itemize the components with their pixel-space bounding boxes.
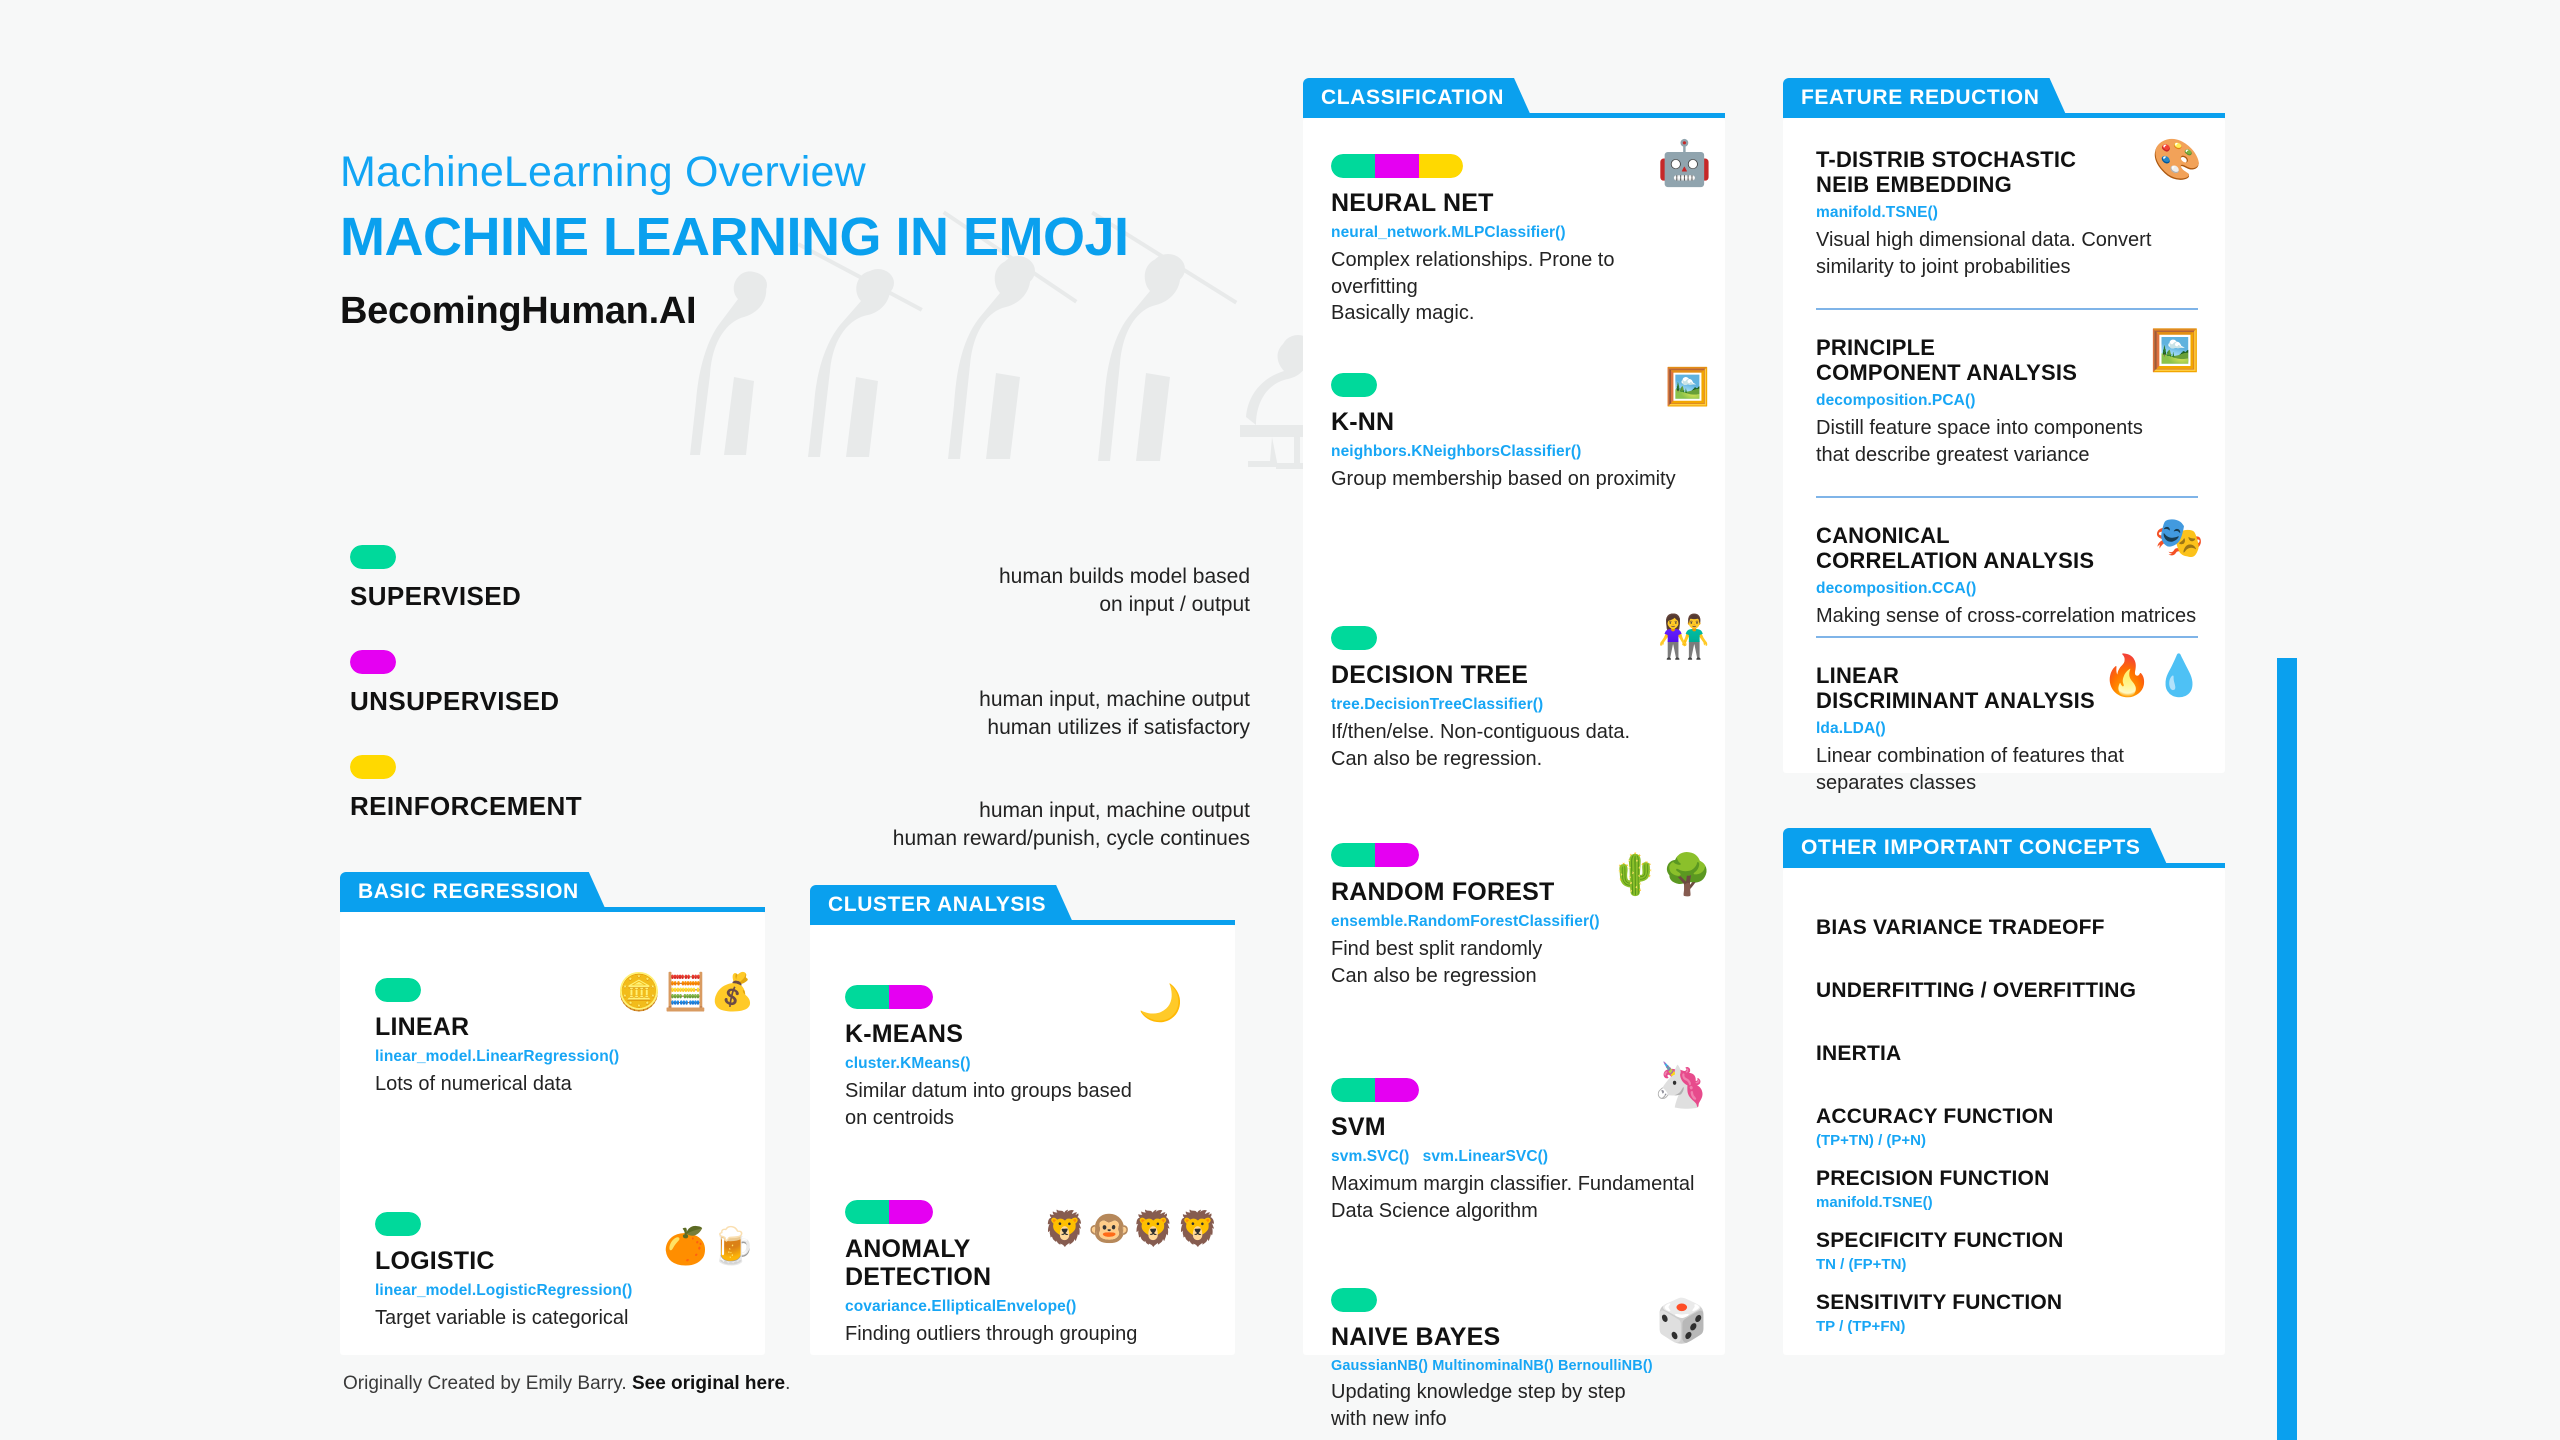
legend-item-unsupervised: UNSUPERVISED human input, machine output…	[350, 650, 1250, 755]
emoji-crescent-moon: 🌙	[1138, 985, 1185, 1021]
card-tab-basic-regression[interactable]: BASIC REGRESSION	[340, 872, 607, 912]
pill-supervised	[375, 1212, 421, 1236]
pill-supervised	[375, 978, 421, 1002]
entry-code: svm.SVC() svm.LinearSVC()	[1331, 1148, 1706, 1166]
emoji-framed-picture: 🖼️	[1665, 369, 1712, 405]
entry-title: LINEAR	[375, 1013, 735, 1041]
emoji-fire-droplet: 🔥💧	[2102, 656, 2206, 696]
concept-title: SENSITIVITY FUNCTION	[1816, 1291, 2198, 1315]
card-tab-other-concepts[interactable]: OTHER IMPORTANT CONCEPTS	[1783, 828, 2169, 868]
entry-title: PRINCIPLE COMPONENT ANALYSIS	[1816, 336, 2198, 385]
entry-code: linear_model.LogisticRegression()	[375, 1282, 735, 1300]
concept-bias-variance-tradeoff: BIAS VARIANCE TRADEOFF	[1816, 916, 2198, 940]
concept-inertia: INERTIA	[1816, 1042, 2198, 1066]
entry-title: K-MEANS	[845, 1020, 1205, 1048]
pill-reinforcement	[350, 755, 396, 779]
entry-k-means: K-MEANS cluster.KMeans() Similar datum i…	[845, 985, 1205, 1131]
card-tab-cluster-analysis[interactable]: CLUSTER ANALYSIS	[810, 885, 1074, 925]
entry-lda: LINEAR DISCRIMINANT ANALYSIS lda.LDA() L…	[1816, 664, 2198, 796]
pill-supervised	[350, 545, 396, 569]
entry-code: decomposition.PCA()	[1816, 392, 2198, 410]
emoji-orange-beer: 🍊🍺	[663, 1228, 757, 1264]
entry-decision-tree: DECISION TREE tree.DecisionTreeClassifie…	[1331, 626, 1706, 772]
entry-code: ensemble.RandomForestClassifier()	[1331, 913, 1706, 931]
emoji-man-and-woman: 👫	[1658, 616, 1712, 658]
legend: SUPERVISED human builds model based on i…	[350, 545, 1250, 860]
entry-linear: LINEAR linear_model.LinearRegression() L…	[375, 978, 735, 1098]
legend-label: UNSUPERVISED	[350, 686, 560, 717]
entry-desc: Finding outliers through grouping	[845, 1321, 1205, 1348]
entry-tsne: T-DISTRIB STOCHASTIC NEIB EMBEDDING mani…	[1816, 148, 2198, 280]
concept-title: ACCURACY FUNCTION	[1816, 1105, 2198, 1129]
entry-code: GaussianNB() MultinominalNB() BernoulliN…	[1331, 1358, 1706, 1374]
entry-desc: Distill feature space into components th…	[1816, 415, 2198, 468]
concepts-list: BIAS VARIANCE TRADEOFF UNDERFITTING / OV…	[1816, 916, 2198, 1335]
entry-logistic: LOGISTIC linear_model.LogisticRegression…	[375, 1212, 735, 1332]
pill-supervised	[1331, 1288, 1377, 1312]
entry-desc: Maximum margin classifier. Fundamental D…	[1331, 1171, 1706, 1224]
emoji-artist-palette: 🎨	[2152, 140, 2204, 180]
header-subtitle: MachineLearning Overview	[340, 150, 1340, 195]
pill-unsupervised	[350, 650, 396, 674]
entry-desc: Visual high dimensional data. Convert si…	[1816, 227, 2198, 280]
entry-desc: Find best split randomly Can also be reg…	[1331, 936, 1706, 989]
pill-supervised-unsupervised	[1331, 1078, 1419, 1102]
legend-item-reinforcement: REINFORCEMENT human input, machine outpu…	[350, 755, 1250, 860]
entry-title: SVM	[1331, 1113, 1706, 1141]
entry-title: DECISION TREE	[1331, 661, 1706, 689]
entry-desc: Complex relationships. Prone to overfitt…	[1331, 247, 1706, 327]
emoji-unicorn-face: 🦄	[1653, 1064, 1710, 1108]
card-feature-reduction: FEATURE REDUCTION T-DISTRIB STOCHASTIC N…	[1783, 118, 2225, 773]
emoji-framed-picture: 🖼️	[2150, 331, 2202, 371]
entry-title: K-NN	[1331, 408, 1706, 436]
emoji-robot-face: 🤖	[1657, 142, 1714, 186]
concept-precision-function: PRECISION FUNCTION manifold.TSNE()	[1816, 1167, 2198, 1211]
entry-desc: If/then/else. Non-contiguous data. Can a…	[1331, 719, 1706, 772]
divider	[1816, 636, 2198, 638]
pill-supervised-unsupervised	[845, 985, 933, 1009]
entry-code: manifold.TSNE()	[1816, 204, 2198, 222]
legend-label: REINFORCEMENT	[350, 791, 582, 822]
entry-code: lda.LDA()	[1816, 720, 2198, 738]
infographic-root: MachineLearning Overview MACHINE LEARNIN…	[0, 0, 2560, 1440]
entry-cca: CANONICAL CORRELATION ANALYSIS decomposi…	[1816, 524, 2198, 630]
concept-title: UNDERFITTING / OVERFITTING	[1816, 979, 2198, 1003]
concept-code: manifold.TSNE()	[1816, 1194, 2198, 1211]
entry-desc: Updating knowledge step by step with new…	[1331, 1379, 1706, 1432]
emoji-game-die: 🎲	[1656, 1300, 1710, 1342]
entry-title: T-DISTRIB STOCHASTIC NEIB EMBEDDING	[1816, 148, 2198, 197]
emoji-cactus-tree: 🌵🌳	[1610, 855, 1714, 895]
card-classification: CLASSIFICATION NEURAL NET neural_network…	[1303, 118, 1725, 1355]
emoji-lion-monkey-lion-lion: 🦁🐵🦁🦁	[1044, 1212, 1221, 1246]
entry-desc: Lots of numerical data	[375, 1071, 735, 1098]
entry-code: neural_network.MLPClassifier()	[1331, 224, 1706, 242]
page-title: MACHINE LEARNING IN EMOJI	[340, 209, 1340, 266]
pill-supervised-unsupervised	[845, 1200, 933, 1224]
card-basic-regression: BASIC REGRESSION LINEAR linear_model.Lin…	[340, 912, 765, 1355]
entry-desc: Target variable is categorical	[375, 1305, 735, 1332]
header: MachineLearning Overview MACHINE LEARNIN…	[340, 150, 1340, 480]
legend-description: human input, machine output human reward…	[893, 797, 1250, 854]
card-tab-classification[interactable]: CLASSIFICATION	[1303, 78, 1532, 118]
entry-desc: Group membership based on proximity	[1331, 466, 1706, 493]
emoji-performing-arts-masks: 🎭	[2154, 518, 2206, 558]
concept-accuracy-function: ACCURACY FUNCTION (TP+TN) / (P+N)	[1816, 1105, 2198, 1149]
footer-credit: Originally Created by Emily Barry. See o…	[343, 1373, 790, 1395]
brand-name: BecomingHuman.AI	[340, 290, 1340, 333]
card-tab-feature-reduction[interactable]: FEATURE REDUCTION	[1783, 78, 2067, 118]
entry-title: CANONICAL CORRELATION ANALYSIS	[1816, 524, 2198, 573]
entry-svm: SVM svm.SVC() svm.LinearSVC() Maximum ma…	[1331, 1078, 1706, 1224]
concept-title: SPECIFICITY FUNCTION	[1816, 1229, 2198, 1253]
concept-title: PRECISION FUNCTION	[1816, 1167, 2198, 1191]
card-other-concepts: OTHER IMPORTANT CONCEPTS BIAS VARIANCE T…	[1783, 868, 2225, 1355]
entry-title: NEURAL NET	[1331, 189, 1706, 217]
concept-specificity-function: SPECIFICITY FUNCTION TN / (FP+TN)	[1816, 1229, 2198, 1273]
entry-neural-net: NEURAL NET neural_network.MLPClassifier(…	[1331, 154, 1706, 327]
concept-code: (TP+TN) / (P+N)	[1816, 1132, 2198, 1149]
emoji-coin-calculator-moneybag: 🪙🧮💰	[617, 974, 757, 1010]
entry-code: covariance.EllipticalEnvelope()	[845, 1298, 1205, 1316]
entry-desc: Making sense of cross-correlation matric…	[1816, 603, 2198, 630]
pill-all-three	[1331, 154, 1463, 178]
concept-code: TP / (TP+FN)	[1816, 1318, 2198, 1335]
concept-title: BIAS VARIANCE TRADEOFF	[1816, 916, 2198, 940]
right-accent-bar	[2277, 658, 2297, 1440]
entry-desc: Linear combination of features that sepa…	[1816, 743, 2198, 796]
entry-code: tree.DecisionTreeClassifier()	[1331, 696, 1706, 714]
entry-pca: PRINCIPLE COMPONENT ANALYSIS decompositi…	[1816, 336, 2198, 468]
entry-naive-bayes: NAIVE BAYES GaussianNB() MultinominalNB(…	[1331, 1288, 1706, 1432]
legend-description: human input, machine output human utiliz…	[979, 686, 1250, 743]
entry-title: NAIVE BAYES	[1331, 1323, 1706, 1351]
concept-title: INERTIA	[1816, 1042, 2198, 1066]
concept-code: TN / (FP+TN)	[1816, 1256, 2198, 1273]
legend-item-supervised: SUPERVISED human builds model based on i…	[350, 545, 1250, 650]
entry-anomaly-detection: ANOMALY DETECTION covariance.EllipticalE…	[845, 1200, 1205, 1348]
footer-link[interactable]: See original here	[632, 1373, 785, 1394]
pill-supervised-unsupervised	[1331, 843, 1419, 867]
entry-code: decomposition.CCA()	[1816, 580, 2198, 598]
legend-label: SUPERVISED	[350, 581, 521, 612]
card-cluster-analysis: CLUSTER ANALYSIS K-MEANS cluster.KMeans(…	[810, 925, 1235, 1355]
entry-k-nn: K-NN neighbors.KNeighborsClassifier() Gr…	[1331, 373, 1706, 493]
concept-sensitivity-function: SENSITIVITY FUNCTION TP / (TP+FN)	[1816, 1291, 2198, 1335]
entry-random-forest: RANDOM FOREST ensemble.RandomForestClass…	[1331, 843, 1706, 989]
pill-supervised	[1331, 626, 1377, 650]
footer-prefix: Originally Created by Emily Barry.	[343, 1373, 632, 1394]
footer-suffix: .	[785, 1373, 790, 1394]
divider	[1816, 308, 2198, 310]
entry-code: neighbors.KNeighborsClassifier()	[1331, 443, 1706, 461]
entry-code: cluster.KMeans()	[845, 1055, 1205, 1073]
pill-supervised	[1331, 373, 1377, 397]
concept-underfitting-overfitting: UNDERFITTING / OVERFITTING	[1816, 979, 2198, 1003]
legend-description: human builds model based on input / outp…	[999, 563, 1250, 620]
entry-desc: Similar datum into groups based on centr…	[845, 1078, 1205, 1131]
divider	[1816, 496, 2198, 498]
entry-code: linear_model.LinearRegression()	[375, 1048, 735, 1066]
